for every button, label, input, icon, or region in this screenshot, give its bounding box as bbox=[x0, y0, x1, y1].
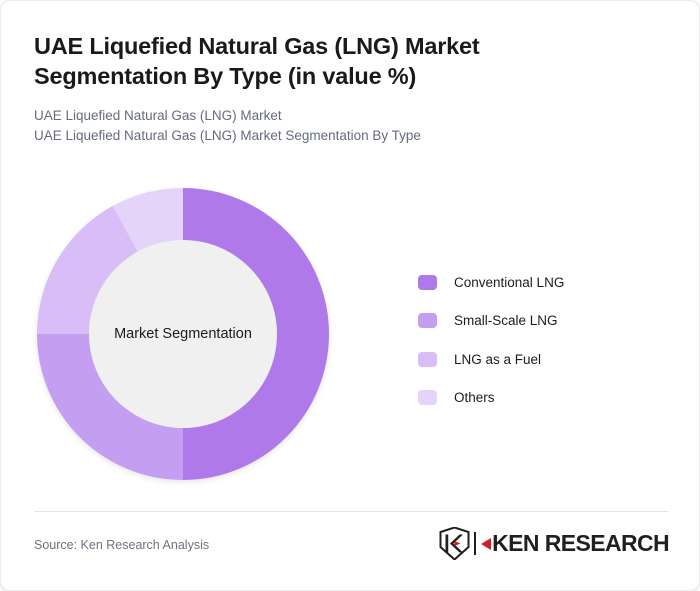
legend-swatch-icon bbox=[418, 275, 437, 290]
ken-research-logo: KEN RESEARCH bbox=[439, 526, 669, 560]
source-text: Source: Ken Research Analysis bbox=[34, 538, 209, 552]
subtitle-line-1: UAE Liquefied Natural Gas (LNG) Market bbox=[34, 106, 634, 126]
subtitle-line-2: UAE Liquefied Natural Gas (LNG) Market S… bbox=[34, 126, 634, 146]
legend-label: LNG as a Fuel bbox=[454, 352, 541, 367]
logo-text-research: RESEARCH bbox=[545, 530, 669, 557]
logo-wordmark: KEN RESEARCH bbox=[481, 530, 669, 557]
footer-divider bbox=[34, 511, 668, 512]
donut-hole bbox=[89, 240, 277, 428]
legend-item[interactable]: Conventional LNG bbox=[418, 263, 564, 302]
page-title: UAE Liquefied Natural Gas (LNG) Market S… bbox=[34, 31, 634, 91]
legend-label: Small-Scale LNG bbox=[454, 313, 558, 328]
chart-header: UAE Liquefied Natural Gas (LNG) Market S… bbox=[34, 31, 634, 146]
subtitle-block: UAE Liquefied Natural Gas (LNG) Market U… bbox=[34, 106, 634, 146]
legend-item[interactable]: Others bbox=[418, 379, 564, 418]
chart-area: Market Segmentation Conventional LNGSmal… bbox=[1, 166, 700, 491]
legend-swatch-icon bbox=[418, 313, 437, 328]
logo-triangle-icon bbox=[481, 538, 491, 550]
legend-label: Others bbox=[454, 390, 495, 405]
legend-swatch-icon bbox=[418, 390, 437, 405]
donut-svg bbox=[37, 188, 329, 480]
donut-chart: Market Segmentation bbox=[37, 188, 329, 480]
logo-divider bbox=[474, 532, 476, 555]
logo-text-ken: KEN bbox=[492, 530, 539, 557]
ken-logo-shield-icon bbox=[439, 527, 470, 560]
legend-item[interactable]: Small-Scale LNG bbox=[418, 302, 564, 341]
chart-card: UAE Liquefied Natural Gas (LNG) Market S… bbox=[0, 0, 700, 591]
legend-swatch-icon bbox=[418, 352, 437, 367]
legend-label: Conventional LNG bbox=[454, 275, 564, 290]
chart-legend: Conventional LNGSmall-Scale LNGLNG as a … bbox=[418, 263, 564, 417]
legend-item[interactable]: LNG as a Fuel bbox=[418, 340, 564, 379]
